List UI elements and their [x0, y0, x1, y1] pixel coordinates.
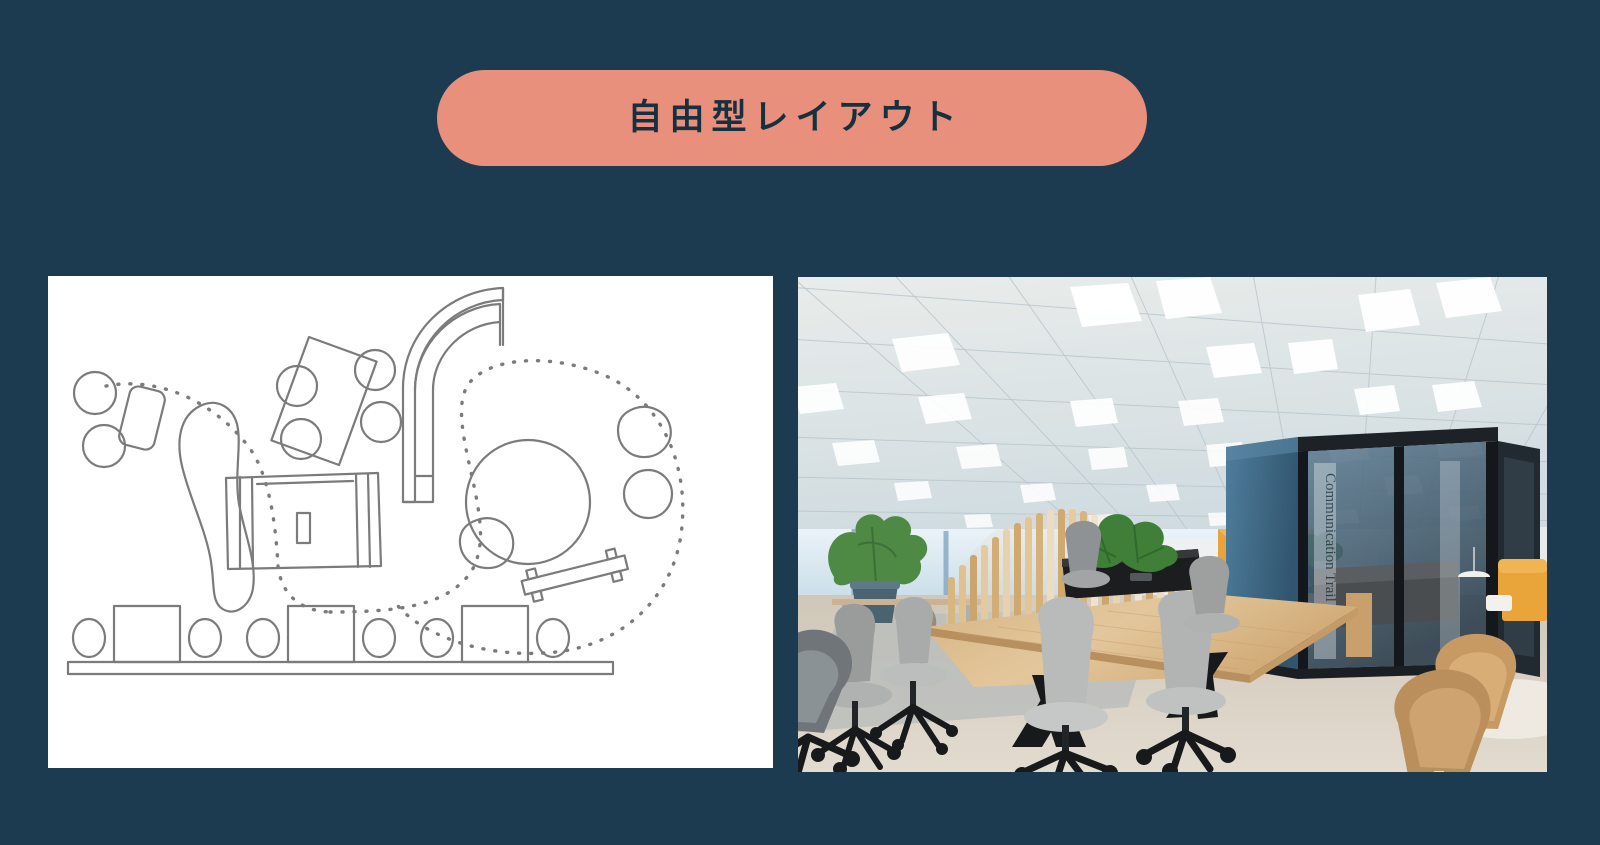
page-title: 自由型レイアウト — [620, 101, 963, 136]
slim-bench — [519, 547, 630, 604]
desk-chair-1a — [73, 619, 105, 657]
round-stool-b — [83, 425, 125, 467]
pebble-stool-c — [460, 518, 513, 568]
desk-chair-2b — [363, 619, 395, 657]
desk-row — [68, 606, 613, 674]
round-table — [466, 440, 590, 564]
table-chair-right2 — [361, 402, 401, 442]
pod-label: Communication Trail — [1322, 473, 1338, 602]
desk-2 — [288, 606, 354, 662]
desk-chair-2a — [247, 619, 279, 657]
pebble-stool-b — [624, 470, 672, 518]
floor-plan-illustration — [48, 276, 773, 768]
counter-line — [68, 662, 613, 674]
office-photo-panel: Communication Trail — [798, 277, 1547, 772]
desk-1 — [114, 606, 180, 662]
storage-cabinet — [226, 473, 381, 569]
round-stool-a — [74, 372, 116, 414]
pebble-stool-a — [618, 407, 671, 457]
office-photo-illustration: Communication Trail — [798, 277, 1547, 772]
rotated-table-group — [271, 337, 401, 465]
slide-title-pill: 自由型レイアウト — [437, 70, 1147, 166]
organic-sofa — [179, 403, 253, 612]
desk-chair-1b — [189, 619, 221, 657]
slide-root: 自由型レイアウト — [0, 0, 1600, 845]
table-chair-right — [355, 350, 395, 390]
floor-plan-panel — [48, 276, 773, 768]
table-chair-left2 — [281, 419, 321, 459]
curved-bench-sofa — [403, 288, 503, 502]
dotted-path-loop — [330, 361, 683, 654]
